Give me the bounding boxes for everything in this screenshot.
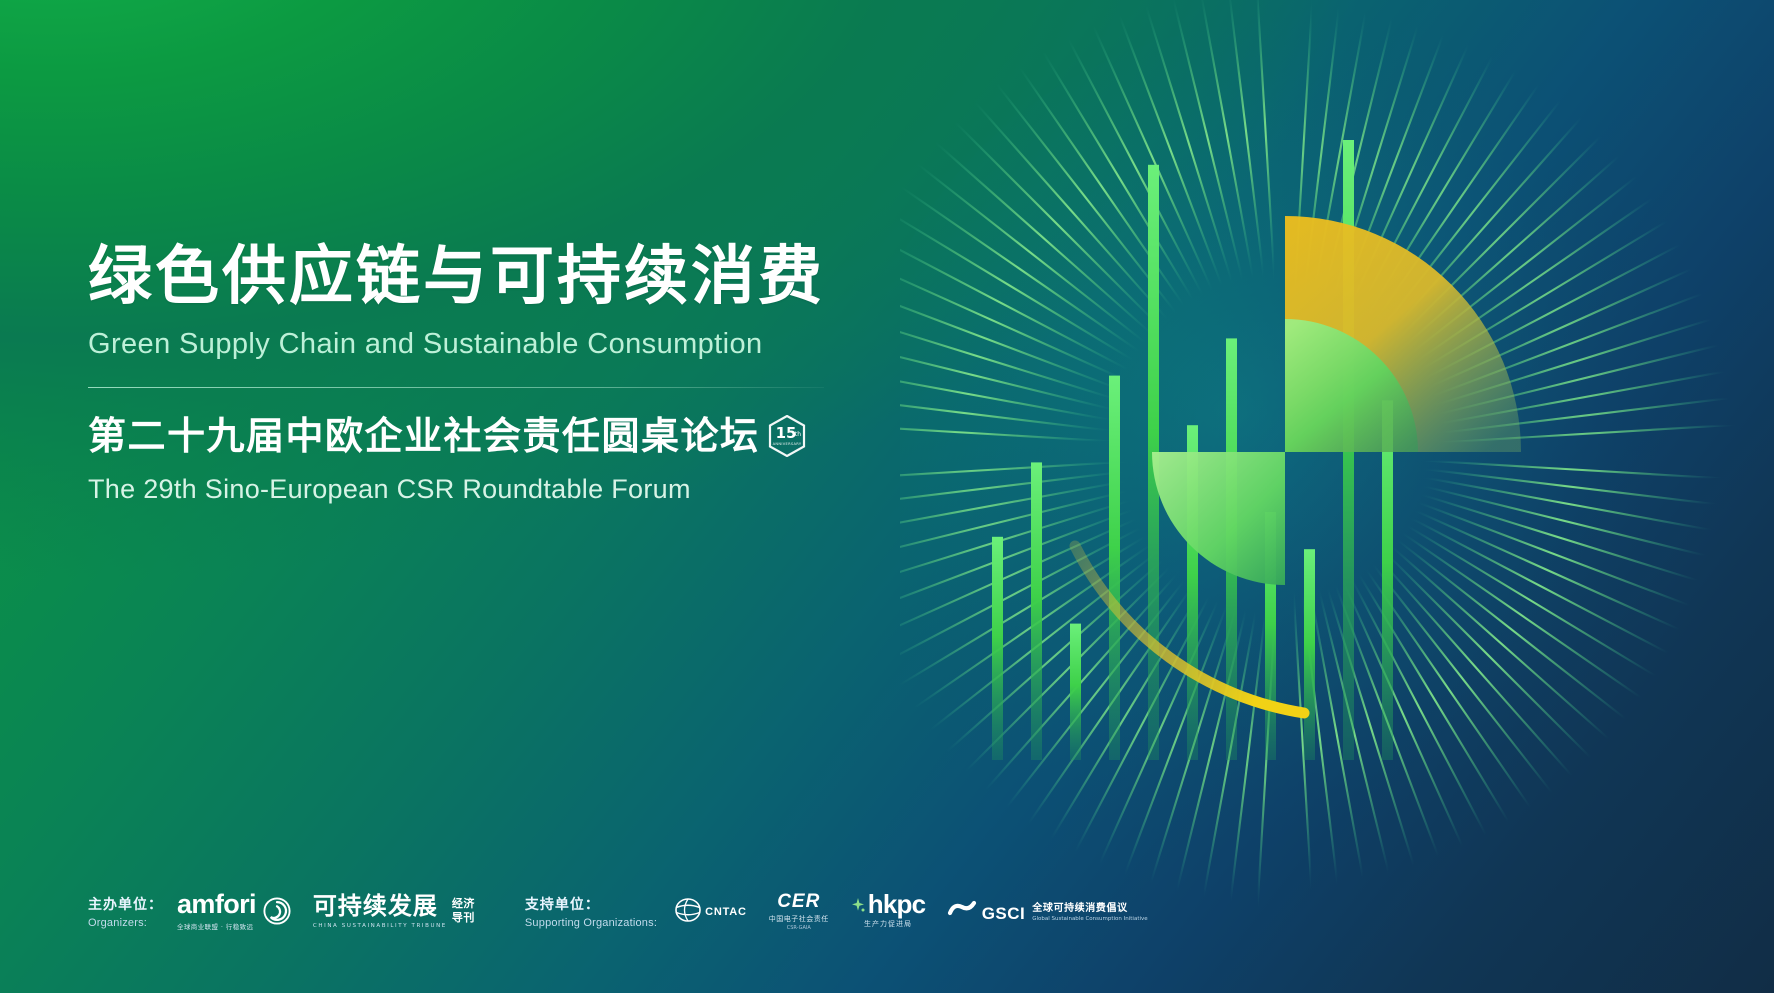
cer-glyph: CER bbox=[777, 892, 820, 911]
gsci-code: GSCI bbox=[982, 904, 1026, 923]
cst-suffix: 经济 导刊 bbox=[452, 897, 475, 925]
logo-cntac[interactable]: CNTAC bbox=[671, 898, 747, 924]
divider bbox=[88, 387, 824, 388]
footer-partners: 主办单位： Organizers: amfori 全球商业联盟 · 行稳致远 可… bbox=[88, 891, 1170, 931]
globe-icon bbox=[671, 898, 705, 924]
cst-suffix-line2: 导刊 bbox=[452, 911, 475, 925]
cntac-code: CNTAC bbox=[705, 906, 747, 918]
headline-block: 绿色供应链与可持续消费 Green Supply Chain and Susta… bbox=[88, 238, 888, 505]
hkpc-wordmark: hkpc bbox=[868, 893, 925, 916]
supporting-label-cn: 支持单位： bbox=[525, 894, 657, 914]
badge-number: 15 bbox=[775, 424, 796, 442]
logo-china-sustainability-tribune[interactable]: 可持续发展 CHINA SUSTAINABILITY TRIBUNE 经济 导刊 bbox=[313, 894, 475, 929]
page-title-cn: 绿色供应链与可持续消费 bbox=[88, 238, 888, 316]
supporting-label-en: Supporting Organizations: bbox=[525, 917, 657, 929]
quarter-arc-shapes bbox=[900, 0, 1774, 993]
logo-gsci[interactable]: GSCI 全球可持续消费倡议 Global Sustainable Consum… bbox=[947, 899, 1147, 924]
logo-amfori[interactable]: amfori 全球商业联盟 · 行稳致远 bbox=[177, 891, 291, 931]
logo-hkpc[interactable]: hkpc 生产力促进局 bbox=[851, 893, 925, 928]
subtitle-cn: 第二十九届中欧企业社会责任圆桌论坛 bbox=[88, 414, 760, 460]
supporting-group: 支持单位： Supporting Organizations: CNTAC CE… bbox=[525, 892, 1170, 931]
supporting-label: 支持单位： Supporting Organizations: bbox=[525, 894, 657, 929]
emblem-graphic: 29th Sino-European CSR Roundtable Forum bbox=[900, 0, 1774, 993]
poster-canvas: 29th Sino-European CSR Roundtable Forum … bbox=[0, 0, 1774, 993]
anniversary-badge: 15 th ANNIVERSARY bbox=[768, 415, 806, 457]
page-title-en: Green Supply Chain and Sustainable Consu… bbox=[88, 328, 888, 361]
hexagon-badge-icon: 15 th ANNIVERSARY bbox=[768, 415, 806, 457]
badge-ordinal: th bbox=[794, 431, 800, 438]
badge-label: ANNIVERSARY bbox=[772, 442, 801, 446]
sparkle-icon bbox=[851, 897, 865, 917]
subtitle-row: 第二十九届中欧企业社会责任圆桌论坛 15 th ANNIVERSARY bbox=[88, 414, 888, 460]
cst-wordmark-en: CHINA SUSTAINABILITY TRIBUNE bbox=[313, 923, 447, 929]
cst-wordmark-cn: 可持续发展 bbox=[313, 892, 438, 920]
gsci-text: 全球可持续消费倡议 Global Sustainable Consumption… bbox=[1032, 899, 1147, 923]
logo-cer[interactable]: CER 中国电子社会责任 CSR-GAIA bbox=[769, 892, 829, 931]
subtitle-en: The 29th Sino-European CSR Roundtable Fo… bbox=[88, 474, 888, 505]
gsci-cn: 全球可持续消费倡议 bbox=[1032, 899, 1147, 914]
cst-suffix-line1: 经济 bbox=[452, 897, 475, 911]
cer-cn: 中国电子社会责任 bbox=[769, 914, 829, 924]
cer-en: CSR-GAIA bbox=[787, 925, 811, 931]
amfori-tagline: 全球商业联盟 · 行稳致远 bbox=[177, 921, 256, 931]
wave-icon bbox=[947, 899, 977, 919]
organizers-label-en: Organizers: bbox=[88, 917, 163, 929]
gsci-en: Global Sustainable Consumption Initiativ… bbox=[1032, 916, 1147, 923]
organizers-label-cn: 主办单位： bbox=[88, 894, 163, 914]
amfori-wordmark: amfori bbox=[177, 889, 256, 919]
organizers-group: 主办单位： Organizers: amfori 全球商业联盟 · 行稳致远 可… bbox=[88, 891, 497, 931]
spiral-icon bbox=[263, 897, 291, 925]
organizers-label: 主办单位： Organizers: bbox=[88, 894, 163, 929]
hkpc-cn: 生产力促进局 bbox=[864, 919, 912, 929]
